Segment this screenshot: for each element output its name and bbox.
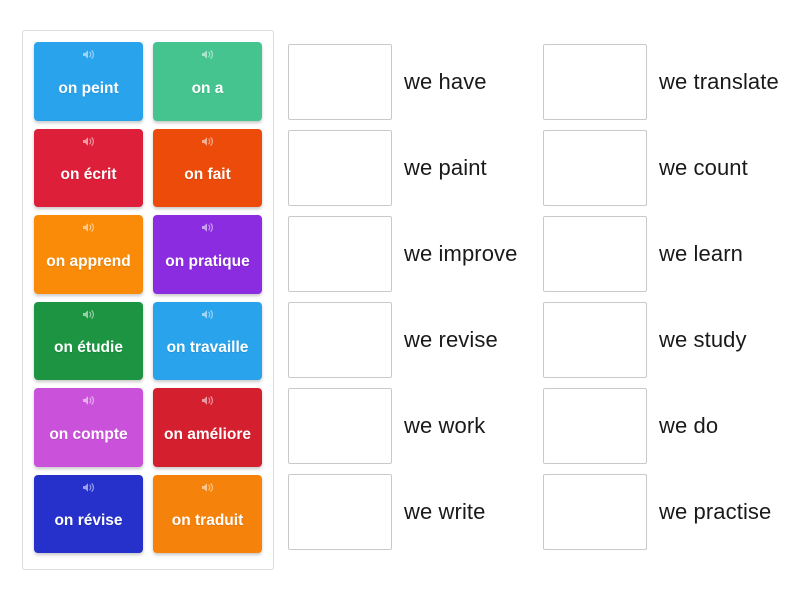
tile-cell: on pratique	[148, 211, 267, 298]
tile-cell: on peint	[29, 38, 148, 125]
match-up-activity: on peinton aon écriton faiton apprendon …	[0, 0, 800, 600]
speaker-icon[interactable]	[153, 49, 262, 60]
answer-row: we work	[288, 387, 525, 464]
tile-label: on traduit	[153, 498, 262, 529]
tile-label: on étudie	[34, 325, 143, 356]
answer-column: we translatewe countwe learnwe studywe d…	[543, 43, 780, 570]
tile-cell: on compte	[29, 384, 148, 471]
drop-zone[interactable]	[288, 302, 392, 378]
answer-label: we do	[659, 413, 718, 439]
draggable-tile[interactable]: on étudie	[34, 302, 143, 381]
speaker-icon[interactable]	[153, 482, 262, 493]
drop-zone[interactable]	[543, 302, 647, 378]
tile-cell: on travaille	[148, 298, 267, 385]
speaker-icon[interactable]	[153, 309, 262, 320]
drop-zone[interactable]	[288, 474, 392, 550]
drop-zone[interactable]	[288, 44, 392, 120]
draggable-tile[interactable]: on a	[153, 42, 262, 121]
answer-row: we study	[543, 301, 780, 378]
tile-cell: on étudie	[29, 298, 148, 385]
answer-label: we study	[659, 327, 747, 353]
draggable-tile[interactable]: on écrit	[34, 129, 143, 208]
tile-label: on révise	[34, 498, 143, 529]
answer-row: we improve	[288, 215, 525, 292]
draggable-tiles-panel: on peinton aon écriton faiton apprendon …	[22, 30, 274, 570]
drop-zone[interactable]	[543, 130, 647, 206]
answer-columns: we havewe paintwe improvewe revisewe wor…	[288, 30, 780, 570]
answer-label: we work	[404, 413, 485, 439]
tile-label: on écrit	[34, 152, 143, 183]
answer-row: we translate	[543, 43, 780, 120]
answer-label: we translate	[659, 69, 779, 95]
drop-zone[interactable]	[288, 216, 392, 292]
tile-label: on peint	[34, 66, 143, 97]
draggable-tile[interactable]: on améliore	[153, 388, 262, 467]
drop-zone[interactable]	[543, 44, 647, 120]
answer-row: we have	[288, 43, 525, 120]
answer-label: we improve	[404, 241, 517, 267]
answer-label: we write	[404, 499, 486, 525]
tile-label: on fait	[153, 152, 262, 183]
speaker-icon[interactable]	[153, 222, 262, 233]
answer-label: we practise	[659, 499, 771, 525]
speaker-icon[interactable]	[34, 136, 143, 147]
drop-zone[interactable]	[288, 130, 392, 206]
tile-cell: on améliore	[148, 384, 267, 471]
speaker-icon[interactable]	[34, 222, 143, 233]
draggable-tile[interactable]: on travaille	[153, 302, 262, 381]
draggable-tile[interactable]: on révise	[34, 475, 143, 554]
speaker-icon[interactable]	[153, 136, 262, 147]
tile-label: on travaille	[153, 325, 262, 356]
answer-row: we practise	[543, 473, 780, 550]
tile-label: on compte	[34, 412, 143, 443]
speaker-icon[interactable]	[34, 482, 143, 493]
tile-cell: on révise	[29, 471, 148, 558]
draggable-tile[interactable]: on apprend	[34, 215, 143, 294]
speaker-icon[interactable]	[34, 395, 143, 406]
answer-row: we paint	[288, 129, 525, 206]
answer-row: we write	[288, 473, 525, 550]
tile-label: on améliore	[153, 412, 262, 443]
draggable-tile[interactable]: on compte	[34, 388, 143, 467]
answer-label: we revise	[404, 327, 498, 353]
drop-zone[interactable]	[543, 216, 647, 292]
answer-column: we havewe paintwe improvewe revisewe wor…	[288, 43, 525, 570]
tile-cell: on a	[148, 38, 267, 125]
drop-zone[interactable]	[543, 388, 647, 464]
answer-label: we have	[404, 69, 487, 95]
answer-row: we learn	[543, 215, 780, 292]
answer-row: we do	[543, 387, 780, 464]
answer-label: we count	[659, 155, 748, 181]
draggable-tile[interactable]: on traduit	[153, 475, 262, 554]
drop-zone[interactable]	[543, 474, 647, 550]
draggable-tile[interactable]: on pratique	[153, 215, 262, 294]
speaker-icon[interactable]	[34, 309, 143, 320]
speaker-icon[interactable]	[153, 395, 262, 406]
tile-label: on pratique	[153, 239, 262, 270]
tile-label: on a	[153, 66, 262, 97]
tile-cell: on traduit	[148, 471, 267, 558]
tile-cell: on écrit	[29, 125, 148, 212]
speaker-icon[interactable]	[34, 49, 143, 60]
draggable-tile[interactable]: on fait	[153, 129, 262, 208]
answer-row: we count	[543, 129, 780, 206]
drop-zone[interactable]	[288, 388, 392, 464]
tile-cell: on apprend	[29, 211, 148, 298]
answer-row: we revise	[288, 301, 525, 378]
tile-cell: on fait	[148, 125, 267, 212]
draggable-tile[interactable]: on peint	[34, 42, 143, 121]
answer-label: we paint	[404, 155, 487, 181]
answer-label: we learn	[659, 241, 743, 267]
tile-label: on apprend	[34, 239, 143, 270]
